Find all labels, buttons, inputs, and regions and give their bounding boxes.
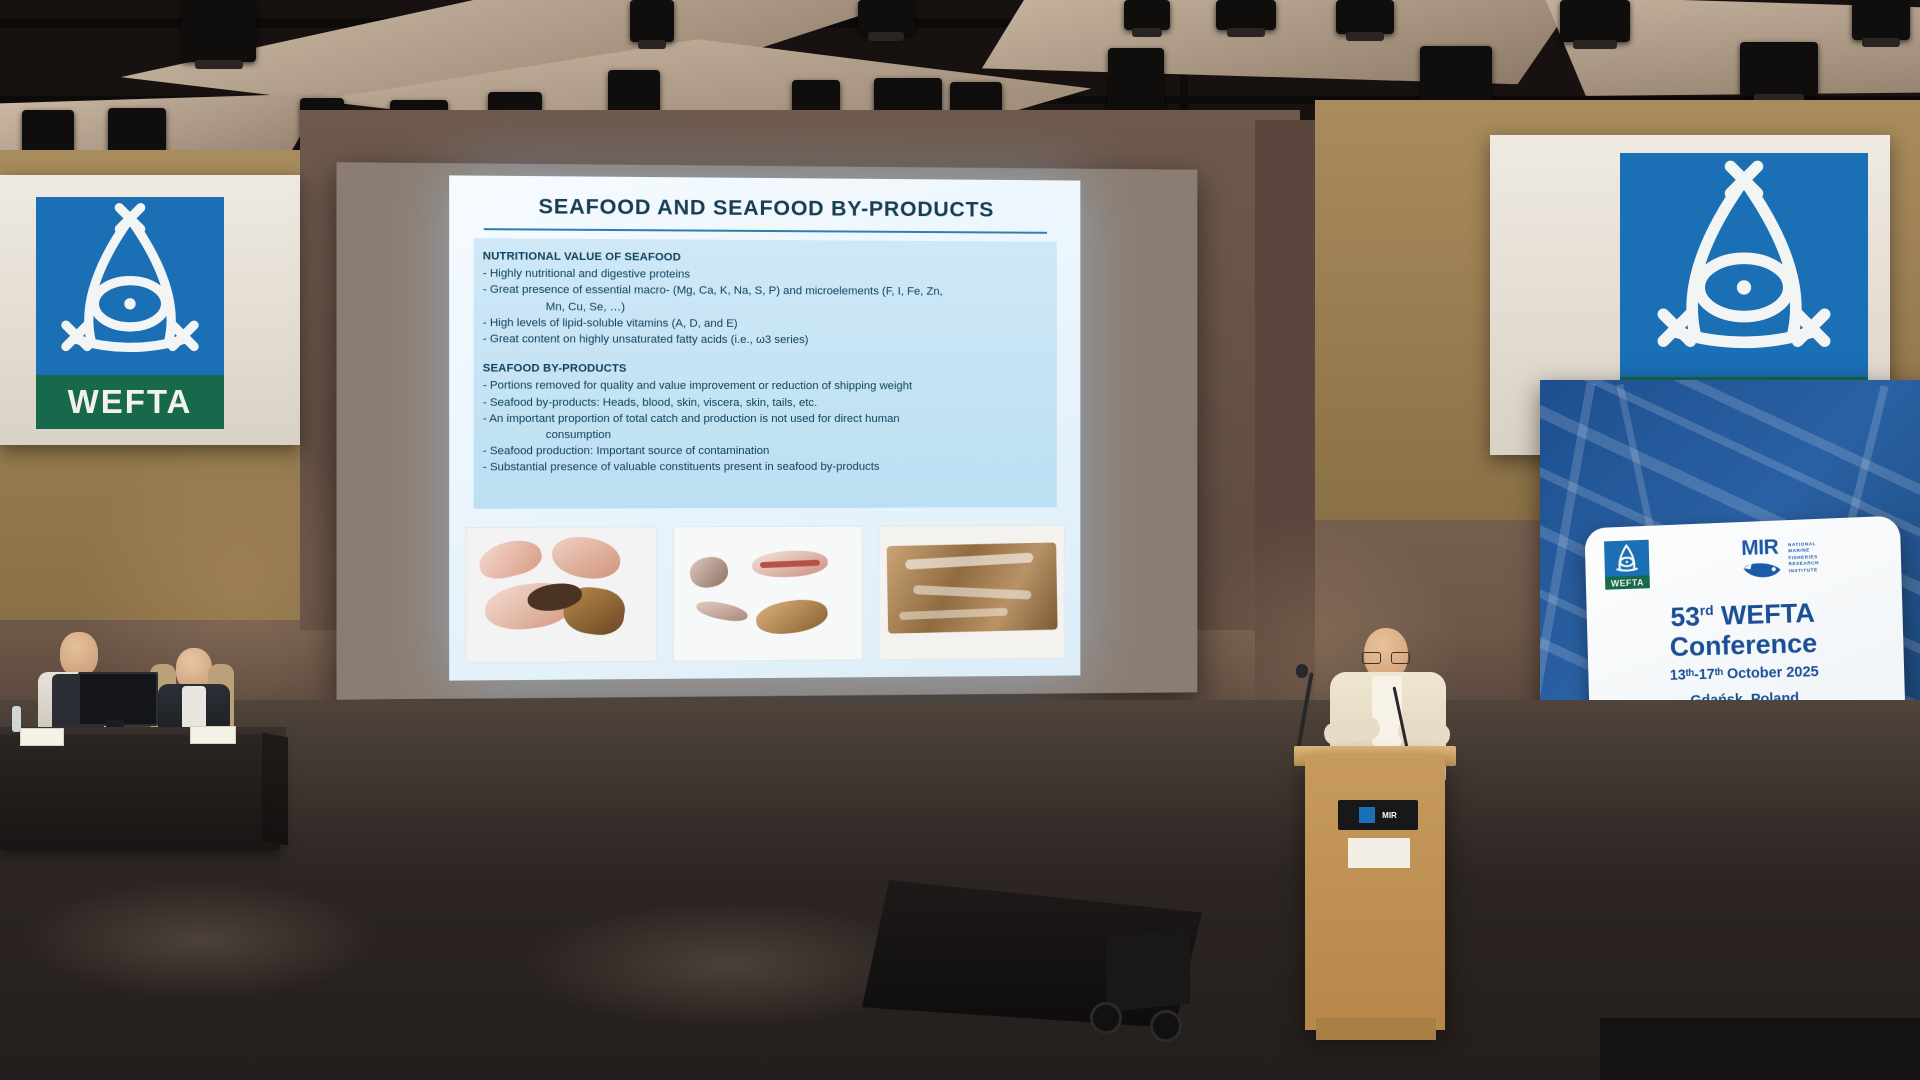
slide-bullet: - Seafood production: Important source o… (483, 443, 1058, 460)
podium (1305, 755, 1445, 1030)
slide-photo-fish-parts (673, 526, 862, 662)
slide-bullet: - Seafood by-products: Heads, blood, ski… (483, 394, 1058, 411)
glasses-icon (1362, 652, 1410, 662)
stage-light-icon (1560, 0, 1630, 42)
caster-wheel (1090, 1002, 1122, 1034)
stage-light-icon (1216, 0, 1276, 30)
conference-title: 53rd WEFTA Conference (1586, 589, 1903, 665)
podium-mir-logo-icon: MIR (1382, 811, 1397, 820)
stage-light-icon (858, 0, 914, 34)
podium-name-card (1348, 838, 1410, 868)
water-bottle (12, 706, 21, 732)
stage-light-icon (630, 0, 674, 42)
podium-logo-plate: MIR (1338, 800, 1418, 830)
wefta-banner-left: WEFTA (0, 175, 300, 445)
slide-bullet: - High levels of lipid-soluble vitamins … (483, 315, 1058, 333)
mir-fish-icon (1742, 558, 1784, 582)
slide-photo-row (465, 525, 1064, 663)
slide-bullet: - An important proportion of total catch… (483, 411, 1058, 427)
podium-wefta-logo-icon (1359, 807, 1375, 823)
wefta-fish-logo-icon (36, 197, 224, 375)
sign-logo-row: WEFTA MIR NATIONAL MARINE FISHERIES RESE… (1604, 530, 1883, 592)
floor-light-pool (20, 880, 380, 1000)
foldback-monitor-face (1106, 928, 1190, 1012)
microphone-head-icon (1296, 664, 1308, 678)
name-card-right (190, 726, 236, 744)
slide-bullet: - Substantial presence of valuable const… (483, 459, 1058, 476)
mir-logo: MIR NATIONAL MARINE FISHERIES RESEARCH I… (1741, 535, 1819, 582)
panel-desk (0, 735, 280, 850)
slide-bullet: - Great presence of essential macro- (Mg… (483, 282, 1058, 301)
panel-monitor (78, 672, 158, 726)
slide-photo-fish-fillets (465, 526, 657, 663)
stage-light-icon (182, 0, 256, 62)
slide-body-text: NUTRITIONAL VALUE OF SEAFOOD - Highly nu… (483, 248, 1058, 476)
mir-logo-label: MIR (1741, 536, 1783, 559)
podium-base (1316, 1018, 1436, 1040)
slide-bullet: - Portions removed for quality and value… (483, 378, 1058, 395)
stage-light-icon (1852, 0, 1910, 40)
slide-bullet-continuation: Mn, Cu, Se, …) (483, 298, 1058, 316)
caster-wheel (1150, 1010, 1182, 1042)
presentation-slide: SEAFOOD AND SEAFOOD BY-PRODUCTS NUTRITIO… (449, 175, 1080, 680)
slide-title: SEAFOOD AND SEAFOOD BY-PRODUCTS (449, 194, 1080, 224)
slide-section-heading-2: SEAFOOD BY-PRODUCTS (483, 361, 1058, 378)
stage-riser (1600, 1018, 1920, 1080)
conference-dates: 13ᵗʰ-17ᵗʰ October 2025 (1588, 662, 1904, 686)
mir-subtitle: NATIONAL MARINE FISHERIES RESEARCH INSTI… (1788, 541, 1819, 574)
stage-light-icon (1124, 0, 1170, 30)
name-card-left (20, 728, 64, 746)
stage-light-icon (1336, 0, 1394, 34)
wefta-banner-label: WEFTA (36, 375, 224, 429)
slide-bullet: - Great content on highly unsaturated fa… (483, 331, 1058, 349)
conference-stage-photo: WEFTA WEFTA (0, 0, 1920, 1080)
panel-desk-side (262, 732, 288, 845)
slide-photo-fish-tray (878, 525, 1065, 660)
slide-section-heading-1: NUTRITIONAL VALUE OF SEAFOOD (483, 248, 1058, 267)
floor-light-sheen (0, 700, 1920, 880)
wefta-fish-logo-icon (1620, 153, 1868, 377)
stage-light-icon (1420, 46, 1492, 104)
sign-wefta-logo: WEFTA (1604, 540, 1650, 591)
wefta-fish-logo-icon (1604, 540, 1650, 577)
slide-bullet-continuation: consumption (483, 427, 1058, 443)
slide-title-rule (484, 228, 1047, 234)
stage-light-icon (1740, 42, 1818, 96)
sign-wefta-label: WEFTA (1605, 575, 1650, 589)
